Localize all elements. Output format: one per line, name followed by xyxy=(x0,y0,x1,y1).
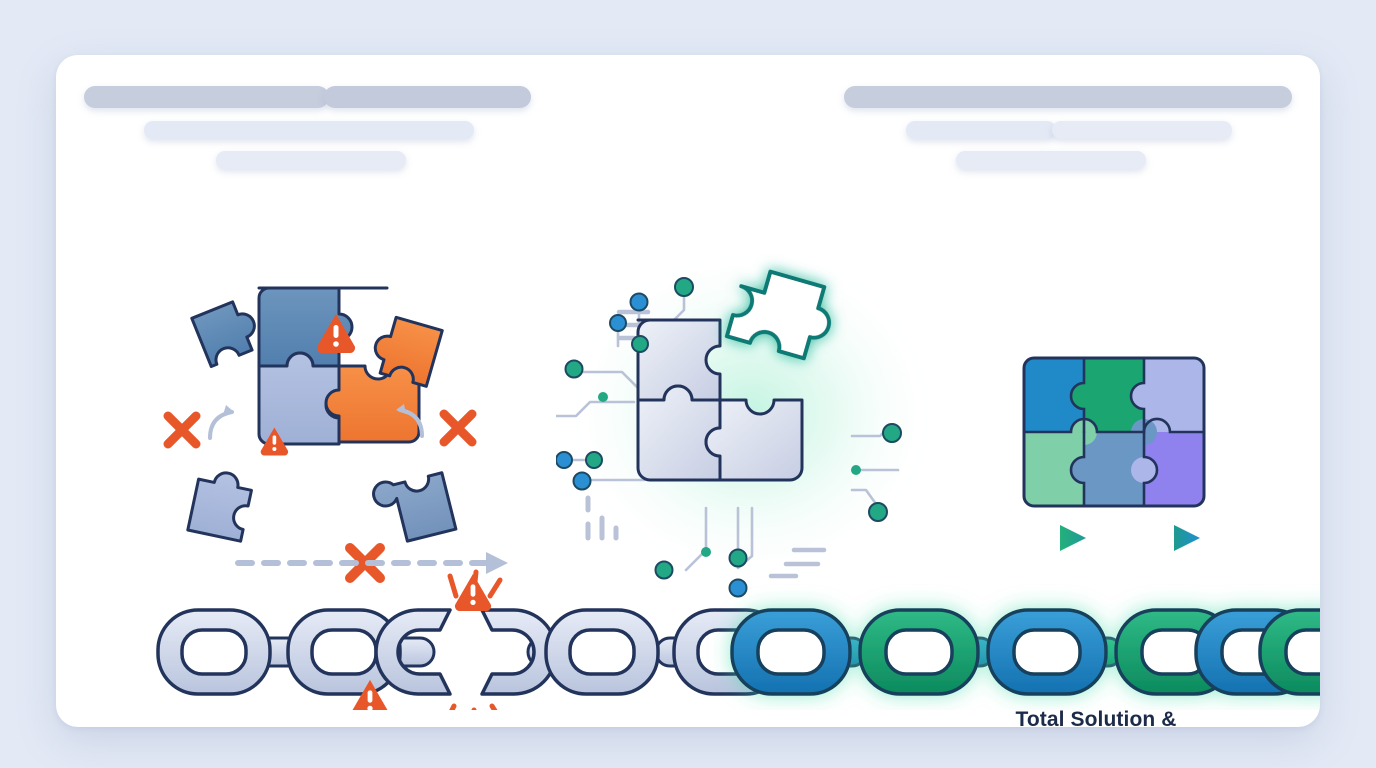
quad-bottom-right xyxy=(326,366,419,442)
chain-broken-section xyxy=(158,610,786,694)
link-4-inner xyxy=(570,630,634,674)
node-14 xyxy=(701,547,711,557)
link-2-inner xyxy=(312,630,376,674)
link-6-inner xyxy=(758,630,824,674)
scattered-piece-top-left xyxy=(192,297,263,366)
chain-warning-top xyxy=(455,574,491,611)
skeleton-bar-line-1a xyxy=(84,86,329,108)
skeleton-bar-line-2a xyxy=(906,121,1056,139)
chain-connected-section xyxy=(732,610,1320,694)
link-1-inner xyxy=(182,630,246,674)
node-11 xyxy=(869,503,887,521)
skeleton-bar-line-3 xyxy=(216,151,406,169)
node-2 xyxy=(631,294,648,311)
link-11-inner xyxy=(1286,630,1320,674)
caption-total-solution: Total Solution & Streamlined Workflow xyxy=(918,706,1274,727)
node-4 xyxy=(632,336,648,352)
manual-process-illustration xyxy=(156,240,556,610)
skeleton-bar-line-2b xyxy=(1052,121,1232,139)
link-7-inner xyxy=(886,630,952,674)
node-9 xyxy=(574,473,591,490)
node-3 xyxy=(610,315,626,331)
curved-arrow-left xyxy=(210,412,232,438)
x-mark-left xyxy=(168,416,196,444)
node-12 xyxy=(851,465,861,475)
skeleton-bar-line-1 xyxy=(844,86,1292,108)
scattered-piece-bottom-left xyxy=(188,467,254,541)
x-mark-right xyxy=(444,414,472,442)
node-18 xyxy=(598,392,608,402)
node-1 xyxy=(675,278,693,296)
node-10 xyxy=(883,424,901,442)
scattered-piece-bottom-right xyxy=(371,468,456,546)
skeleton-bar-line-2 xyxy=(144,121,474,139)
arrow-blue xyxy=(1102,525,1200,551)
ai-quad-bottom-right xyxy=(706,400,802,480)
ai-solution-illustration xyxy=(556,240,956,610)
skeleton-bar-line-1b xyxy=(324,86,531,108)
node-8 xyxy=(586,452,602,468)
chain-illustration xyxy=(96,560,1320,710)
illustration-card: Manual Process Total Solution & Streamli… xyxy=(56,55,1320,727)
node-7 xyxy=(556,452,572,468)
arrow-green xyxy=(1000,525,1086,551)
skeleton-bar-line-3 xyxy=(956,151,1146,169)
link-8-inner xyxy=(1014,630,1080,674)
node-5 xyxy=(566,361,583,378)
